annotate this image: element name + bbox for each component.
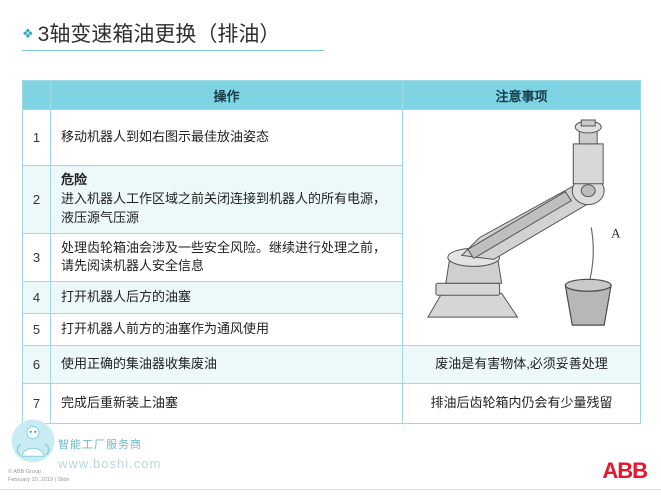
footer-divider	[0, 489, 661, 490]
row-operation: 移动机器人到如右图示最佳放油姿态	[51, 110, 403, 166]
row-operation: 完成后重新装上油塞	[51, 384, 403, 424]
row-operation: 使用正确的集油器收集废油	[51, 346, 403, 384]
danger-label: 危险	[61, 171, 394, 190]
row-number: 1	[23, 110, 51, 166]
footer-meta-line1: © ABB Group	[8, 468, 70, 476]
row-number: 2	[23, 166, 51, 234]
page-title-text: 3轴变速箱油更换（排油）	[38, 18, 281, 48]
row-number: 5	[23, 314, 51, 346]
boshi-mascot-logo-icon	[10, 418, 56, 464]
page-title: ❖ 3轴变速箱油更换（排油）	[22, 18, 280, 48]
row-operation: 打开机器人后方的油塞	[51, 282, 403, 314]
row-note: 排油后齿轮箱内仍会有少量残留	[403, 384, 641, 424]
title-divider	[22, 50, 324, 51]
footer-meta: © ABB Group February 10, 2019 | Slide	[8, 468, 70, 485]
footer-brand: 智能工厂服务商	[58, 436, 142, 452]
robot-drain-posture-icon: A	[406, 118, 637, 337]
abb-logo: ABB	[602, 458, 647, 484]
row-operation: 处理齿轮箱油会涉及一些安全风险。继续进行处理之前，请先阅读机器人安全信息	[51, 233, 403, 282]
footer-meta-line2: February 10, 2019 | Slide	[8, 476, 70, 484]
svg-text:A: A	[611, 226, 621, 241]
row-operation: 打开机器人前方的油塞作为通风使用	[51, 314, 403, 346]
table-row: 6 使用正确的集油器收集废油 废油是有害物体,必须妥善处理	[23, 346, 641, 384]
procedure-table: 操作 注意事项 1 移动机器人到如右图示最佳放油姿态	[22, 80, 641, 424]
slide-canvas: ❖ 3轴变速箱油更换（排油） 操作 注意事项 1 移动机器人到如右图示最佳放油姿…	[0, 0, 661, 498]
row-note: 废油是有害物体,必须妥善处理	[403, 346, 641, 384]
footer-url: www.boshi.com	[58, 456, 161, 471]
header-number	[23, 81, 51, 110]
row-number: 3	[23, 233, 51, 282]
robot-illustration-cell: A	[403, 110, 641, 346]
header-note: 注意事项	[403, 81, 641, 110]
header-operation: 操作	[51, 81, 403, 110]
bullet-icon: ❖	[22, 27, 34, 40]
row-operation: 危险 进入机器人工作区域之前关闭连接到机器人的所有电源，液压源气压源	[51, 166, 403, 234]
row-operation-text: 进入机器人工作区域之前关闭连接到机器人的所有电源，液压源气压源	[61, 191, 386, 225]
table-row: 1 移动机器人到如右图示最佳放油姿态	[23, 110, 641, 166]
row-number: 6	[23, 346, 51, 384]
row-number: 4	[23, 282, 51, 314]
table-row: 7 完成后重新装上油塞 排油后齿轮箱内仍会有少量残留	[23, 384, 641, 424]
table-header-row: 操作 注意事项	[23, 81, 641, 110]
